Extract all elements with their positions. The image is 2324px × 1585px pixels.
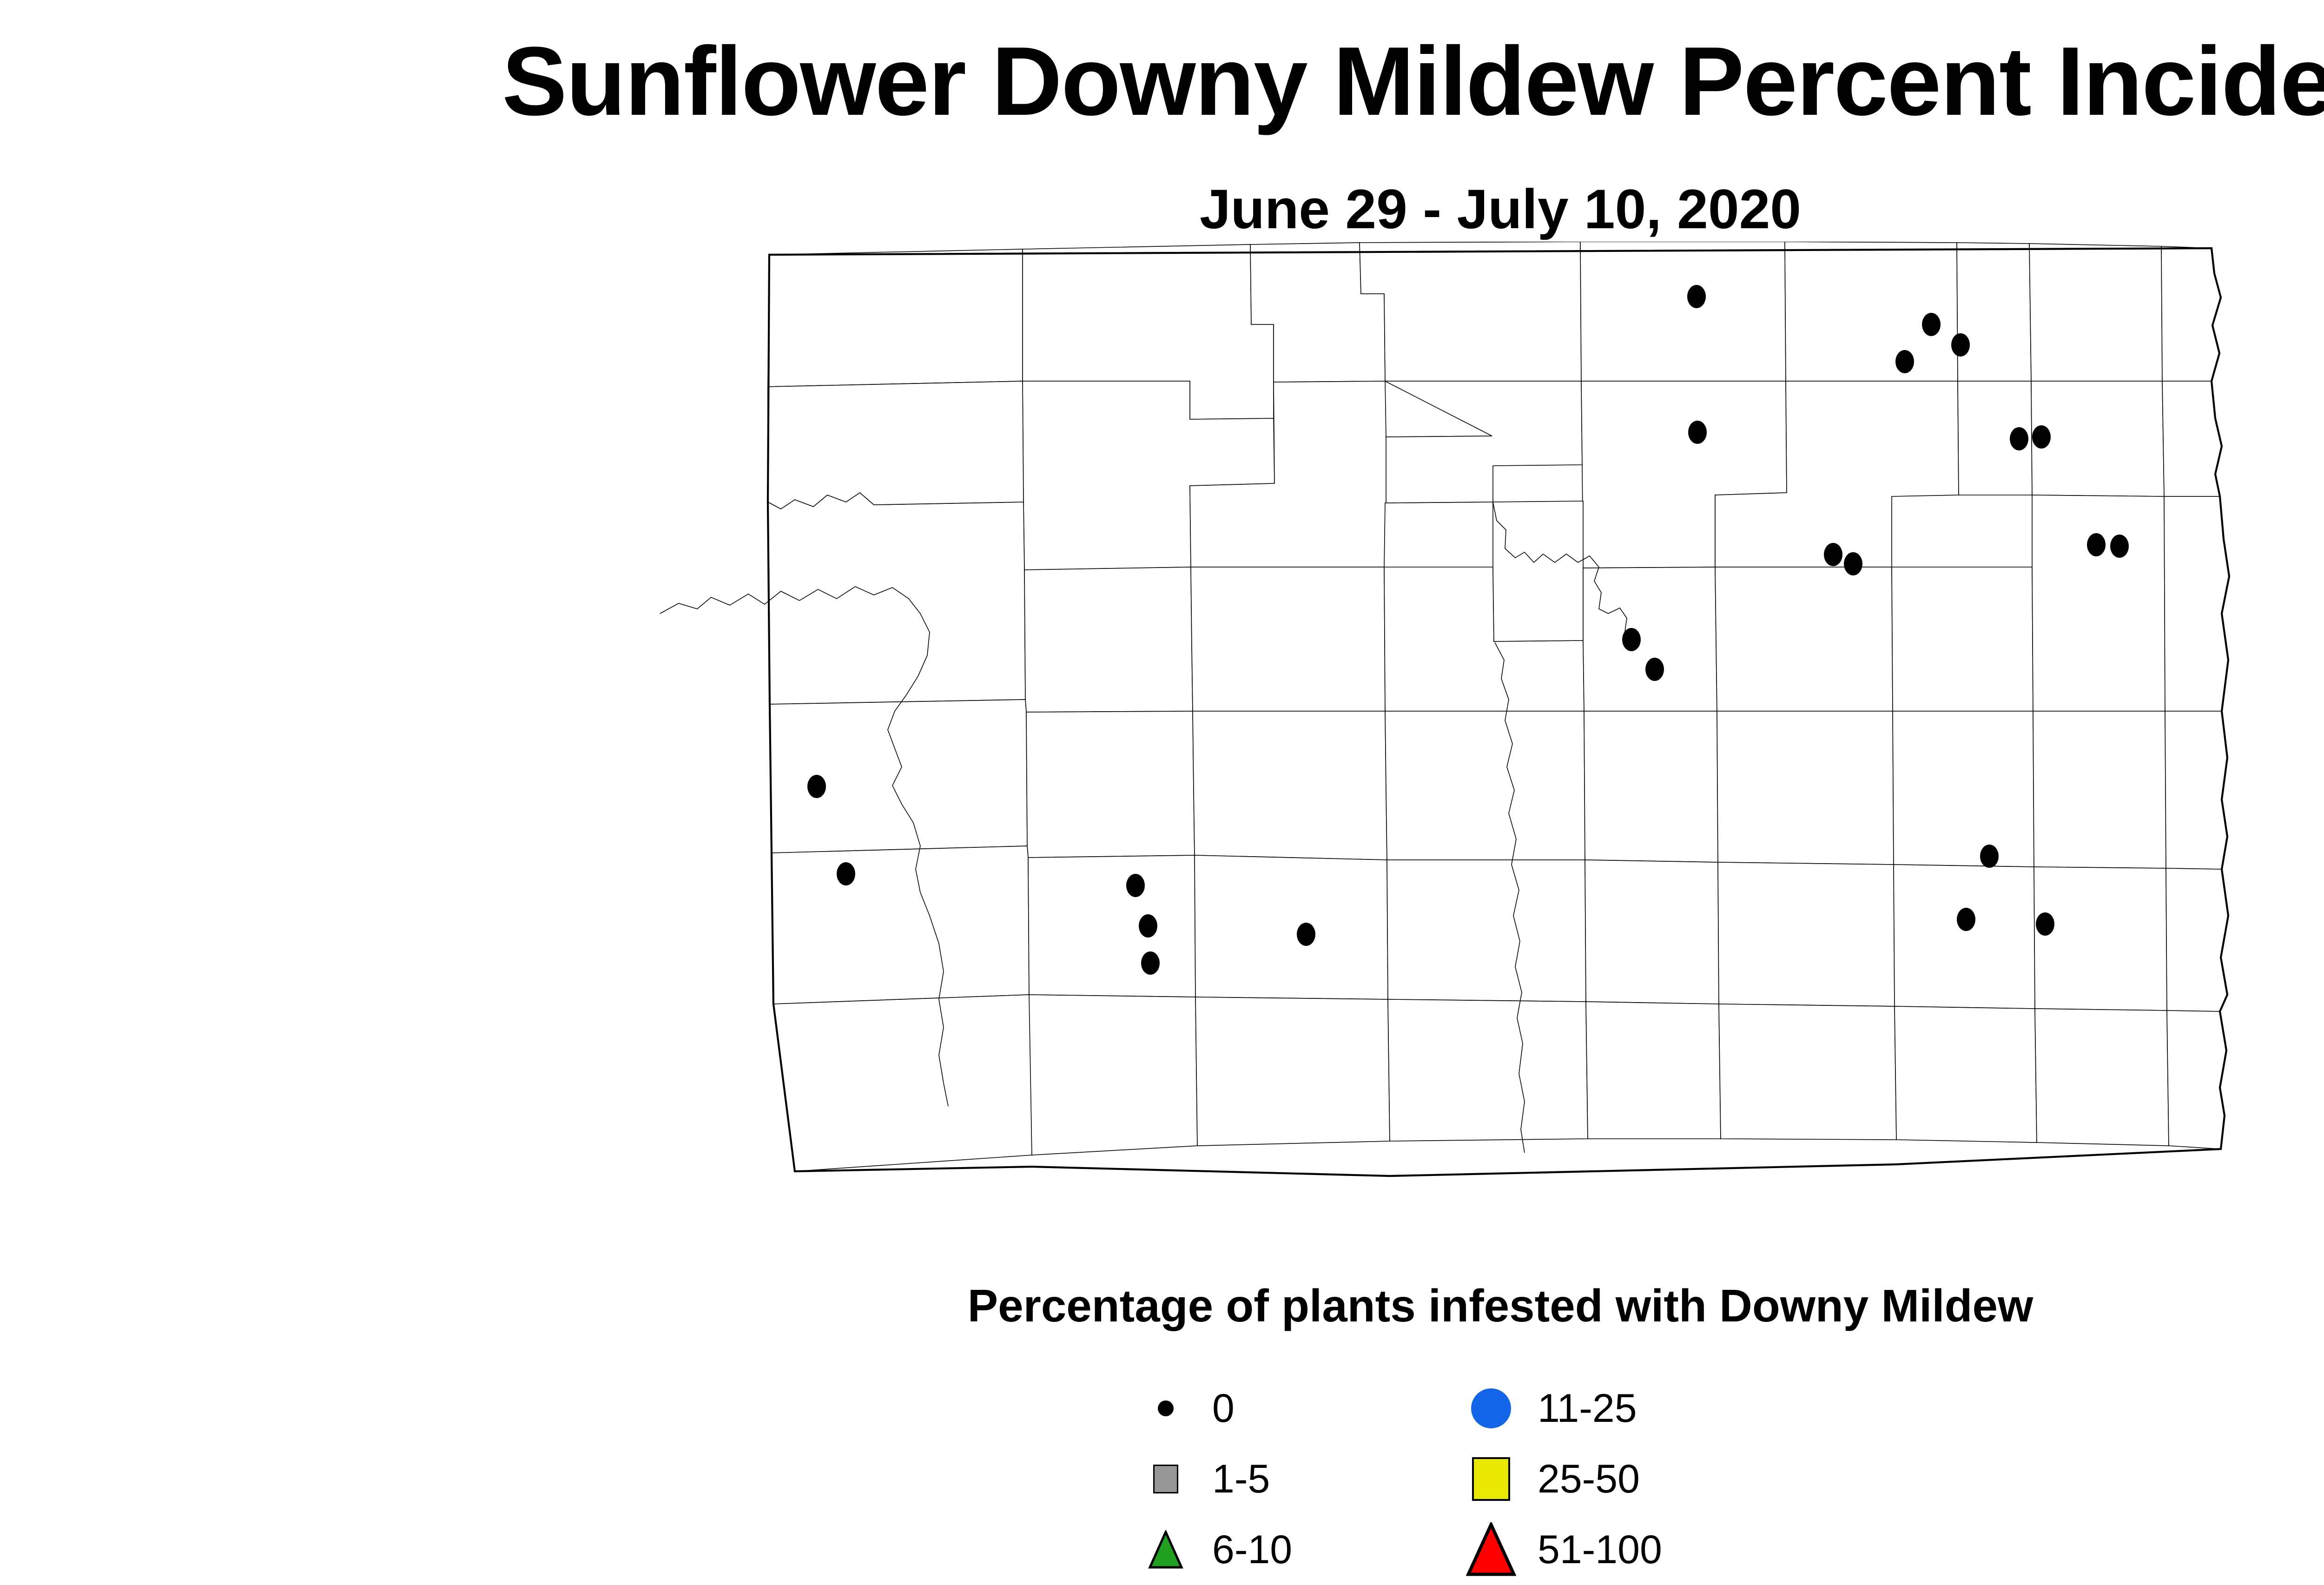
page-subtitle: June 29 - July 10, 2020 [0,181,2324,237]
sample-point[interactable] [1645,658,1664,681]
legend-label: 6-10 [1212,1530,1292,1570]
small-green-triangle-icon [1138,1530,1194,1569]
sample-point[interactable] [1687,285,1706,308]
legend-entry-11-25[interactable]: 11-25 [1463,1373,1863,1444]
county-layer [768,242,2229,1171]
legend-label: 11-25 [1538,1388,1637,1428]
sample-point[interactable] [1126,874,1145,897]
legend-entry-51-100[interactable]: 51-100 [1463,1514,1863,1585]
sample-point[interactable] [2032,425,2051,449]
north-dakota-map [641,242,2324,1255]
sample-point[interactable] [807,775,826,798]
sample-point[interactable] [1688,421,1707,444]
sample-point[interactable] [1297,923,1315,946]
sample-point[interactable] [1951,333,1970,357]
sample-point[interactable] [1141,951,1160,975]
legend-entry-25-50[interactable]: 25-50 [1463,1444,1863,1514]
sample-point[interactable] [837,862,855,885]
sample-point[interactable] [1622,628,1641,651]
large-red-triangle-icon [1463,1522,1519,1577]
sample-point[interactable] [1844,552,1862,575]
large-blue-circle-icon [1463,1388,1519,1428]
map-page: Sunflower Downy Mildew Percent Incidence… [0,0,2324,1566]
legend-entry-0[interactable]: 0 [1138,1373,1463,1444]
legend-label: 1-5 [1212,1459,1270,1499]
legend: Percentage of plants infested with Downy… [0,1283,2324,1585]
sample-point[interactable] [1922,313,1941,336]
sample-point[interactable] [2010,427,2028,450]
large-yellow-square-icon [1463,1457,1519,1501]
legend-label: 25-50 [1538,1459,1640,1499]
sample-point[interactable] [1895,350,1914,373]
legend-entry-1-5[interactable]: 1-5 [1138,1444,1463,1514]
legend-label: 51-100 [1538,1530,1662,1570]
legend-grid: 0 11-25 1-5 25-50 [1138,1373,1863,1585]
small-black-circle-icon [1138,1400,1194,1416]
sample-point[interactable] [1824,543,1842,566]
sample-point[interactable] [2110,535,2129,558]
map-svg [641,242,2324,1255]
page-title: Sunflower Downy Mildew Percent Incidence [0,33,2324,130]
small-gray-square-icon [1138,1465,1194,1493]
sample-point[interactable] [1957,908,1975,931]
legend-label: 0 [1212,1388,1235,1428]
sample-point[interactable] [1980,845,1999,868]
legend-title: Percentage of plants infested with Downy… [0,1283,2324,1328]
sample-point[interactable] [2036,912,2054,936]
sample-point[interactable] [1139,914,1157,938]
legend-entry-6-10[interactable]: 6-10 [1138,1514,1463,1585]
sample-point[interactable] [2087,533,2106,556]
